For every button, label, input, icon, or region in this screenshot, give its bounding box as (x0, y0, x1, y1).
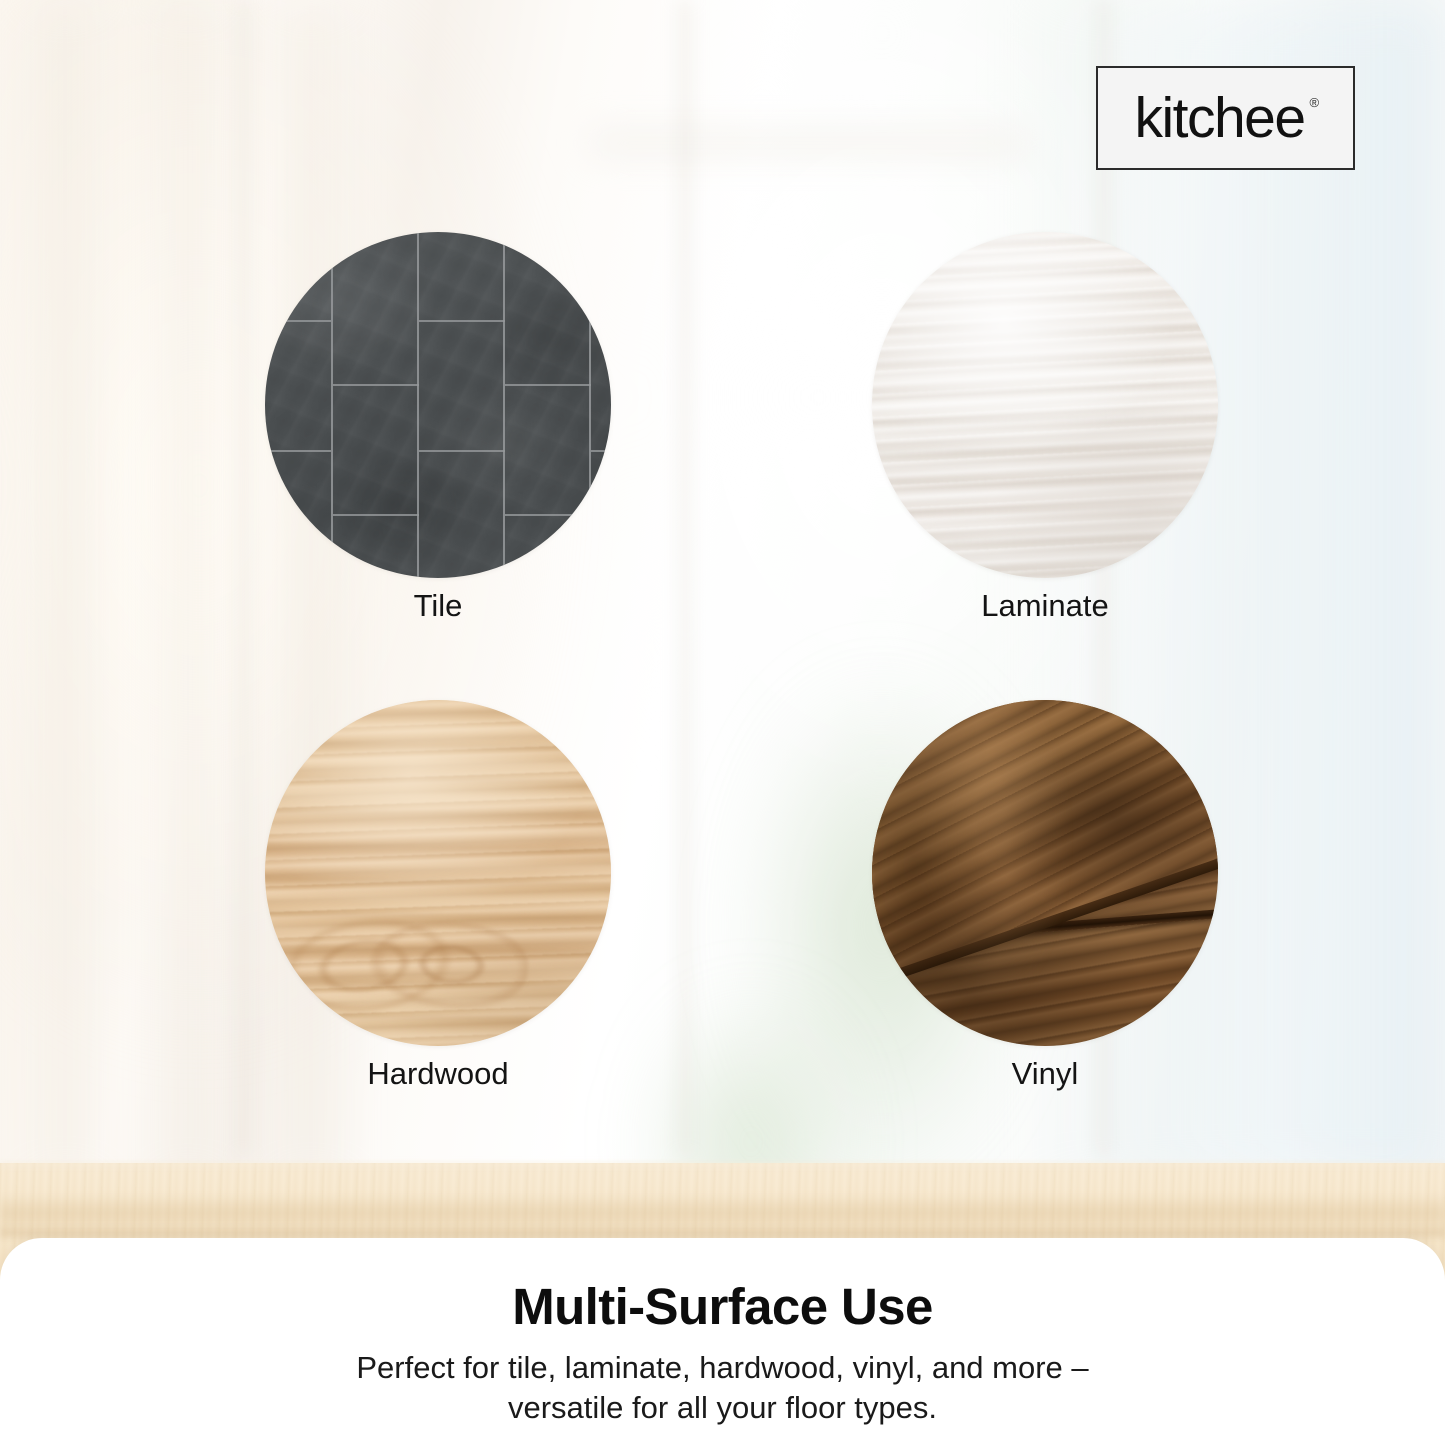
background-stripe-1 (29, 0, 101, 1185)
sample-hardwood: Hardwood (265, 700, 611, 1046)
brand-logo-text: kitchee (1134, 86, 1304, 150)
brand-logo: kitchee ® (1096, 66, 1355, 170)
registered-trademark-icon: ® (1309, 96, 1317, 109)
sample-vinyl: Vinyl (872, 700, 1218, 1046)
brand-logo-wordmark: kitchee ® (1134, 90, 1316, 147)
sample-tile-label: Tile (175, 588, 701, 624)
tile-grout-horizontal-col2 (333, 232, 419, 578)
sample-hardwood-swatch (265, 700, 611, 1046)
background-panel-edge-left (238, 0, 250, 1156)
sample-tile: Tile (265, 232, 611, 578)
sample-tile-swatch (265, 232, 611, 578)
tile-grout-horizontal-col3 (419, 232, 505, 578)
tile-grout-horizontal-col4 (505, 232, 591, 578)
caption-card: Multi-Surface Use Perfect for tile, lami… (0, 1238, 1445, 1445)
counter-top-highlight (0, 1163, 1445, 1170)
sample-laminate-swatch (872, 232, 1218, 578)
sample-hardwood-label: Hardwood (175, 1056, 701, 1092)
caption-subtitle-line-1: Perfect for tile, laminate, hardwood, vi… (263, 1348, 1183, 1389)
hardwood-sheen (265, 700, 611, 1046)
sample-laminate: Laminate (872, 232, 1218, 578)
caption-subtitle: Perfect for tile, laminate, hardwood, vi… (263, 1348, 1183, 1430)
tile-grout-horizontal-col5 (591, 232, 611, 578)
laminate-sheen (872, 232, 1218, 578)
sample-laminate-label: Laminate (782, 588, 1308, 624)
page-title: Multi-Surface Use (0, 1280, 1445, 1334)
vinyl-shading (872, 700, 1218, 1046)
infographic-canvas: kitchee ® Tile Laminate (0, 0, 1445, 1445)
sample-vinyl-swatch (872, 700, 1218, 1046)
sample-vinyl-label: Vinyl (782, 1056, 1308, 1092)
caption-content: Multi-Surface Use Perfect for tile, lami… (0, 1280, 1445, 1429)
caption-subtitle-line-2: versatile for all your floor types. (263, 1388, 1183, 1429)
tile-grout-horizontal-col1 (265, 232, 331, 578)
background-shelf-blur (592, 123, 1026, 163)
background-panel-edge-center (679, 0, 691, 1156)
